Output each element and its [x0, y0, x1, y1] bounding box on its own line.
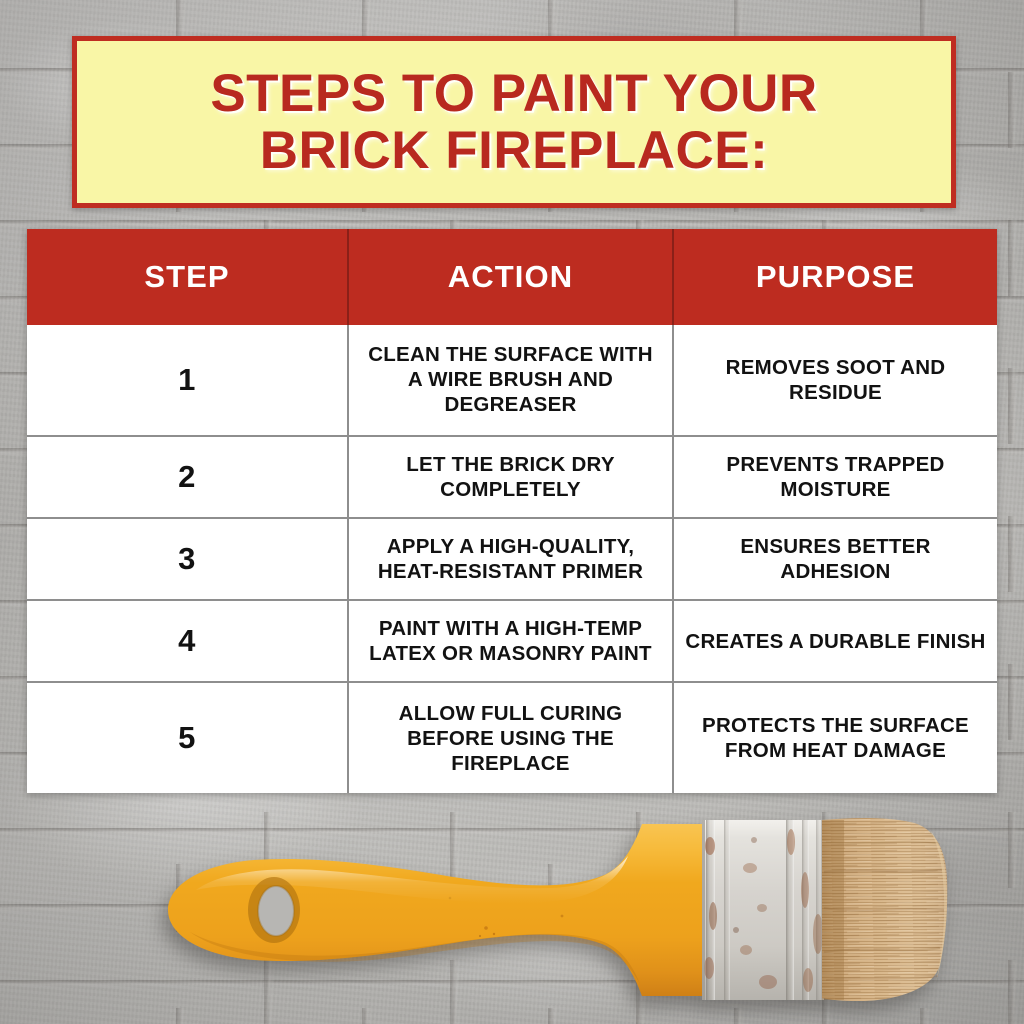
ferrule-ridge — [724, 820, 730, 1000]
table-row: 4 PAINT WITH A HIGH-TEMP LATEX OR MASONR… — [27, 600, 997, 682]
cell-step-number: 3 — [27, 518, 348, 600]
paintbrush-photo — [150, 812, 950, 1008]
cell-action: CLEAN THE SURFACE WITH A WIRE BRUSH AND … — [348, 325, 673, 436]
table-header: STEP ACTION PURPOSE — [27, 229, 997, 325]
page-title-line-1: STEPS TO PAINT YOUR — [210, 64, 817, 123]
bristle-root-shadow — [822, 820, 844, 1000]
column-header-action: ACTION — [348, 229, 673, 325]
cell-action: LET THE BRICK DRY COMPLETELY — [348, 436, 673, 518]
infographic-canvas: STEPS TO PAINT YOUR BRICK FIREPLACE: STE… — [0, 0, 1024, 1024]
cell-purpose: PROTECTS THE SURFACE FROM HEAT DAMAGE — [673, 682, 997, 793]
cell-step-number: 2 — [27, 436, 348, 518]
column-header-step: STEP — [27, 229, 348, 325]
cell-step-number: 1 — [27, 325, 348, 436]
column-header-purpose: PURPOSE — [673, 229, 997, 325]
steps-table: STEP ACTION PURPOSE 1 CLEAN THE SURFACE … — [27, 229, 997, 793]
cell-step-number: 4 — [27, 600, 348, 682]
cell-action: APPLY A HIGH-QUALITY, HEAT-RESISTANT PRI… — [348, 518, 673, 600]
ferrule-left-edge — [702, 820, 705, 1000]
brush-bristles-group — [822, 818, 947, 1001]
brush-ferrule-group — [702, 820, 824, 1000]
table-row: 5 ALLOW FULL CURING BEFORE USING THE FIR… — [27, 682, 997, 793]
table-row: 3 APPLY A HIGH-QUALITY, HEAT-RESISTANT P… — [27, 518, 997, 600]
table-row: 2 LET THE BRICK DRY COMPLETELY PREVENTS … — [27, 436, 997, 518]
cell-purpose: ENSURES BETTER ADHESION — [673, 518, 997, 600]
page-title-line-2: BRICK FIREPLACE: — [260, 121, 769, 180]
cell-purpose: PREVENTS TRAPPED MOISTURE — [673, 436, 997, 518]
table-header-row: STEP ACTION PURPOSE — [27, 229, 997, 325]
cell-action: PAINT WITH A HIGH-TEMP LATEX OR MASONRY … — [348, 600, 673, 682]
title-banner: STEPS TO PAINT YOUR BRICK FIREPLACE: — [72, 36, 956, 208]
cell-step-number: 5 — [27, 682, 348, 793]
cell-purpose: CREATES A DURABLE FINISH — [673, 600, 997, 682]
table-row: 1 CLEAN THE SURFACE WITH A WIRE BRUSH AN… — [27, 325, 997, 436]
cell-action: ALLOW FULL CURING BEFORE USING THE FIREP… — [348, 682, 673, 793]
cell-purpose: REMOVES SOOT AND RESIDUE — [673, 325, 997, 436]
brush-handle-group — [168, 824, 716, 996]
page-title: STEPS TO PAINT YOUR BRICK FIREPLACE: — [184, 65, 843, 179]
table-body: 1 CLEAN THE SURFACE WITH A WIRE BRUSH AN… — [27, 325, 997, 793]
